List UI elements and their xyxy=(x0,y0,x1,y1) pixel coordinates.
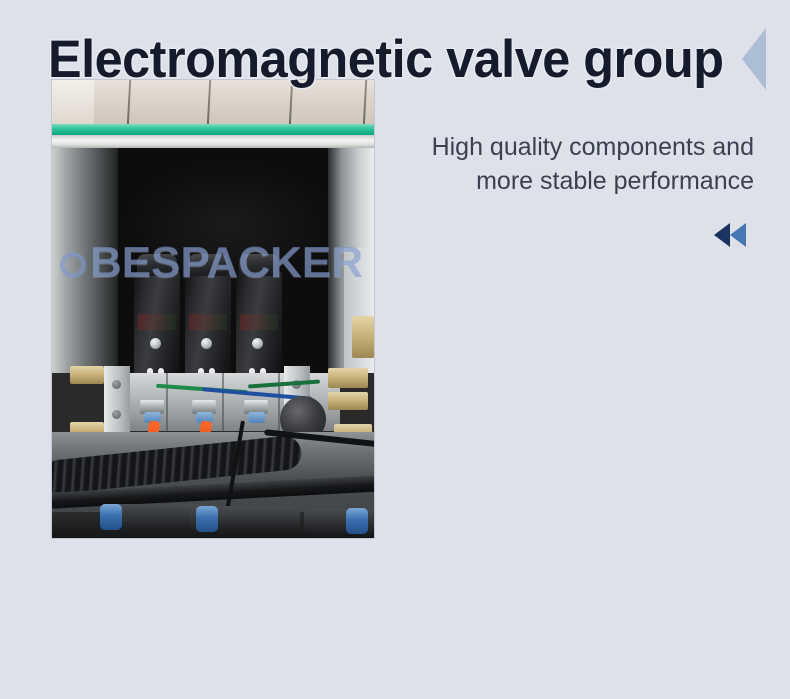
brass-fitting xyxy=(328,392,368,410)
brass-fitting xyxy=(328,368,368,388)
page-subtitle: High quality components and more stable … xyxy=(334,130,754,198)
cable-connector xyxy=(304,508,374,534)
product-photo-canvas: BESPACKER xyxy=(52,80,374,538)
title-accent-wedge-icon xyxy=(742,28,766,90)
solenoid-coil xyxy=(236,272,282,384)
double-left-arrow-icon[interactable] xyxy=(714,220,754,250)
product-feature-banner: Electromagnetic valve group xyxy=(0,0,790,699)
brass-fitting xyxy=(70,366,104,384)
machine-panel-left xyxy=(52,148,118,373)
solenoid-coil xyxy=(134,272,180,384)
arrow-left-dark-icon xyxy=(714,223,730,247)
solenoid-coil xyxy=(185,272,231,384)
page-title: Electromagnetic valve group xyxy=(48,28,732,92)
cable-connector xyxy=(190,506,300,532)
conveyor-rail xyxy=(52,135,374,149)
brass-fitting xyxy=(352,316,374,358)
subtitle-line-1: High quality components and xyxy=(334,130,754,164)
product-photo: BESPACKER xyxy=(52,80,374,538)
arrow-left-light-icon xyxy=(730,223,746,247)
subtitle-line-2: more stable performance xyxy=(334,164,754,198)
